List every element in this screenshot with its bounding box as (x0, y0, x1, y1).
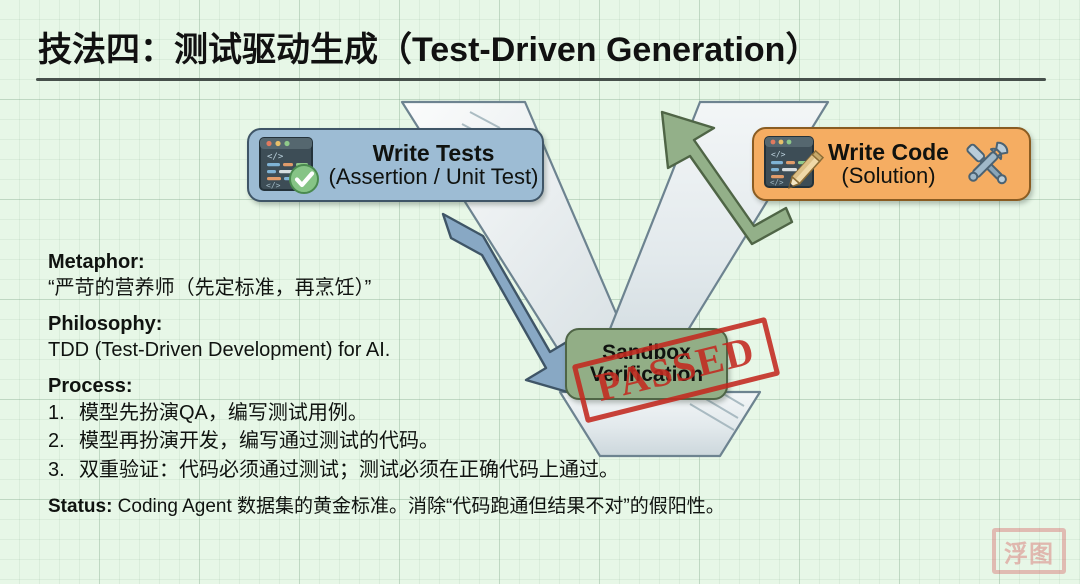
node-write-code-label: Write Code (Solution) (828, 141, 949, 188)
svg-text:</>: </> (267, 152, 284, 162)
metaphor-block: Metaphor: “严苛的营养师（先定标准，再烹饪）” (48, 250, 728, 301)
list-item: 3. 双重验证：代码必须通过测试；测试必须在正确代码上通过。 (48, 456, 728, 484)
process-block: Process: 1. 模型先扮演QA，编写测试用例。 2. 模型再扮演开发，编… (48, 374, 728, 484)
metaphor-text: “严苛的营养师（先定标准，再烹饪）” (48, 275, 728, 301)
list-item-number: 3. (48, 456, 79, 484)
watermark-seal: 浮图 (992, 528, 1066, 574)
process-list: 1. 模型先扮演QA，编写测试用例。 2. 模型再扮演开发，编写通过测试的代码。… (48, 399, 728, 484)
philosophy-text: TDD (Test-Driven Development) for AI. (48, 337, 728, 363)
philosophy-heading: Philosophy: (48, 312, 728, 337)
node-write-tests-label: Write Tests (Assertion / Unit Test) (325, 142, 542, 189)
svg-text:</>: </> (770, 178, 784, 187)
node-write-tests[interactable]: </> </> Write Tests (Assertion / Unit Te… (247, 128, 544, 202)
page-title: 技法四：测试驱动生成（Test-Driven Generation） (38, 22, 819, 71)
node-title: Write Tests (373, 142, 495, 166)
code-window-check-icon-group: </> </> (257, 134, 325, 196)
node-subtitle: (Solution) (841, 165, 935, 188)
list-item-text: 模型先扮演QA，编写测试用例。 (79, 399, 368, 427)
list-item-text: 模型再扮演开发，编写通过测试的代码。 (79, 427, 439, 455)
svg-text:</>: </> (266, 181, 281, 190)
list-item-number: 2. (48, 427, 79, 455)
svg-text:</>: </> (771, 150, 786, 159)
philosophy-block: Philosophy: TDD (Test-Driven Development… (48, 312, 728, 363)
node-subtitle: (Assertion / Unit Test) (329, 166, 539, 189)
node-title: Write Code (828, 141, 949, 165)
wrench-screwdriver-icon (955, 134, 1017, 194)
slide-canvas: 技法四：测试驱动生成（Test-Driven Generation） (0, 0, 1080, 584)
code-window-pencil-icon-group: </> </> (762, 133, 824, 195)
list-item: 1. 模型先扮演QA，编写测试用例。 (48, 399, 728, 427)
status-heading: Status: (48, 496, 112, 517)
list-item: 2. 模型再扮演开发，编写通过测试的代码。 (48, 427, 728, 455)
title-divider (36, 78, 1046, 81)
list-item-text: 双重验证：代码必须通过测试；测试必须在正确代码上通过。 (79, 456, 619, 484)
process-heading: Process: (48, 374, 728, 399)
node-write-code[interactable]: </> </> Write Code (Solution) (752, 127, 1031, 201)
content-body: Metaphor: “严苛的营养师（先定标准，再烹饪）” Philosophy:… (48, 250, 728, 520)
status-line: Status: Coding Agent 数据集的黄金标准。消除“代码跑通但结果… (48, 495, 728, 520)
list-item-number: 1. (48, 399, 79, 427)
metaphor-heading: Metaphor: (48, 250, 728, 275)
status-text: Coding Agent 数据集的黄金标准。消除“代码跑通但结果不对”的假阳性。 (112, 496, 724, 517)
